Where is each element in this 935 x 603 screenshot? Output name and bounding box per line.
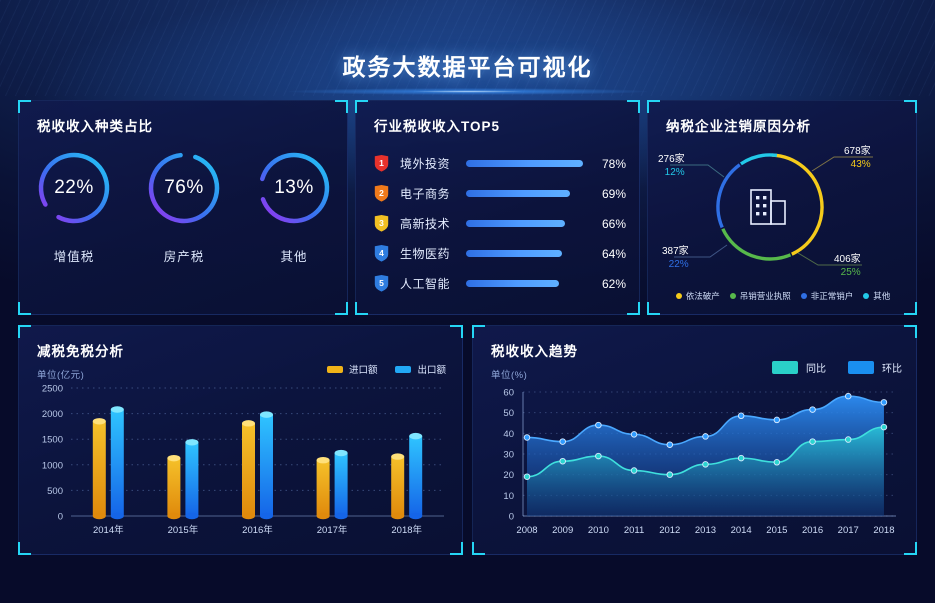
bar-base [93, 513, 106, 519]
rank-shield-icon: 3 [374, 215, 389, 232]
bar-base [409, 513, 422, 519]
top5-bar-track [466, 250, 583, 257]
top5-item-label: 电子商务 [400, 185, 462, 202]
panel-title-top5: 行业税收收入TOP5 [374, 115, 500, 135]
top5-bar-track [466, 190, 583, 197]
rank-number: 1 [374, 155, 389, 172]
top5-row[interactable]: 1境外投资78% [374, 149, 626, 178]
bar-chart-plot: 050010001500200025002014年2015年2016年2017年… [29, 378, 454, 551]
bar-base [335, 513, 348, 519]
gauge-label: 增值税 [54, 246, 95, 265]
corner-bracket-icon [18, 302, 31, 315]
trend-y-tick-label: 40 [503, 429, 514, 440]
office-building-icon [751, 190, 785, 224]
bar-base [391, 513, 404, 519]
bar-cap [242, 420, 255, 426]
legend-label: 进口额 [349, 362, 378, 376]
title-glow-decoration [288, 88, 648, 95]
trend-data-point [667, 442, 673, 448]
legend-color-dot [730, 293, 736, 299]
trend-x-tick-label: 2012 [659, 525, 680, 536]
trend-data-point [774, 459, 780, 465]
bar-legend-item[interactable]: 出口额 [395, 362, 446, 376]
bar-column [111, 410, 124, 516]
bar-base [167, 513, 180, 519]
top5-bar-fill [466, 190, 570, 197]
rank-shield-icon: 4 [374, 245, 389, 262]
dashboard-root: 政务大数据平台可视化 税收收入种类占比 22%增值税76%房产税13%其他 行业… [0, 0, 935, 603]
top5-row[interactable]: 4生物医药64% [374, 239, 626, 268]
donut-slice-count: 387家 [662, 246, 689, 257]
bar-y-tick-label: 1000 [42, 460, 63, 471]
top5-bar-fill [466, 220, 565, 227]
trend-data-point [667, 472, 673, 478]
bar-column [391, 457, 404, 516]
bar-legend-item[interactable]: 进口额 [327, 362, 378, 376]
corner-bracket-icon [904, 100, 917, 113]
corner-bracket-icon [904, 302, 917, 315]
top5-bar-track [466, 160, 583, 167]
trend-data-point [738, 455, 744, 461]
trend-x-tick-label: 2018 [873, 525, 894, 536]
panel-tax-reduction: 减税免税分析 单位(亿元) 进口额出口额 0500100015002000250… [18, 325, 463, 555]
trend-y-tick-label: 0 [509, 512, 514, 523]
corner-bracket-icon [18, 100, 31, 113]
legend-color-swatch [395, 366, 411, 373]
bar-column [335, 453, 348, 516]
trend-x-tick-label: 2010 [588, 525, 609, 536]
corner-bracket-icon [355, 100, 368, 113]
bar-base [242, 513, 255, 519]
bar-column [242, 423, 255, 516]
bar-column [409, 436, 422, 516]
trend-y-tick-label: 60 [503, 388, 514, 399]
donut-segment [741, 155, 777, 164]
donut-slice-count: 678家 [844, 146, 871, 157]
corner-bracket-icon [335, 100, 348, 113]
top5-percent-value: 66% [592, 217, 626, 231]
legend-label: 非正常销户 [811, 290, 854, 302]
corner-bracket-icon [627, 100, 640, 113]
bar-base [111, 513, 124, 519]
gauge-value: 76% [145, 149, 223, 227]
donut-slice-label: 406家25% [834, 253, 861, 279]
donut-slice-label: 387家22% [662, 245, 689, 271]
panel-title-cancel-reason: 纳税企业注销原因分析 [666, 115, 811, 135]
bar-y-tick-label: 1500 [42, 435, 63, 446]
bar-cap [409, 433, 422, 439]
corner-bracket-icon [904, 325, 917, 338]
bar-chart-legend: 进口额出口额 [327, 362, 446, 376]
bar-x-tick-label: 2015年 [168, 524, 199, 536]
trend-data-point [774, 417, 780, 423]
top5-bar-fill [466, 250, 562, 257]
trend-data-point [810, 439, 816, 445]
bar-cap [260, 411, 273, 417]
gauge-value: 13% [255, 149, 333, 227]
top5-row[interactable]: 2电子商务69% [374, 179, 626, 208]
corner-bracket-icon [627, 302, 640, 315]
trend-y-tick-label: 30 [503, 450, 514, 461]
gauge-label: 其他 [280, 246, 307, 265]
trend-data-point [631, 432, 637, 438]
donut-legend-item[interactable]: 吊销营业执照 [730, 290, 791, 302]
trend-data-point [703, 462, 709, 468]
top5-item-label: 生物医药 [400, 245, 462, 262]
trend-x-tick-label: 2015 [766, 525, 787, 536]
trend-y-tick-label: 20 [503, 470, 514, 481]
bar-y-tick-label: 0 [58, 512, 63, 523]
bar-base [185, 513, 198, 519]
trend-chart-plot: 0102030405060200820092010201120122013201… [483, 378, 908, 551]
top5-percent-value: 69% [592, 187, 626, 201]
top5-item-label: 高新技术 [400, 215, 462, 232]
trend-data-point [560, 458, 566, 464]
donut-legend-item[interactable]: 非正常销户 [801, 290, 854, 302]
corner-bracket-icon [18, 325, 31, 338]
panel-title-tax-trend: 税收收入趋势 [491, 340, 578, 360]
trend-x-tick-label: 2011 [624, 525, 644, 536]
trend-legend-item[interactable]: 环比 [848, 360, 902, 375]
donut-chart: 678家43%406家25%387家22%276家12% [648, 135, 918, 285]
rank-number: 2 [374, 185, 389, 202]
panel-industry-top5: 行业税收收入TOP5 1境外投资78%2电子商务69%3高新技术66%4生物医药… [355, 100, 640, 315]
legend-label: 同比 [806, 360, 826, 375]
trend-data-point [738, 413, 744, 419]
bar-y-tick-label: 2000 [42, 409, 63, 420]
legend-color-dot [801, 293, 807, 299]
trend-x-tick-label: 2016 [802, 525, 823, 536]
corner-bracket-icon [335, 302, 348, 315]
trend-x-tick-label: 2009 [552, 525, 573, 536]
trend-x-tick-label: 2013 [695, 525, 716, 536]
trend-data-point [524, 474, 530, 480]
bar-column [317, 460, 330, 516]
corner-bracket-icon [450, 325, 463, 338]
trend-x-tick-label: 2008 [516, 525, 537, 536]
bar-cap [317, 457, 330, 463]
donut-slice-percent: 25% [834, 266, 861, 279]
bar-cap [391, 453, 404, 459]
corner-bracket-icon [647, 302, 660, 315]
bar-column [260, 415, 273, 516]
gauge-ring: 13% [255, 149, 333, 227]
bar-column [167, 458, 180, 516]
trend-data-point [881, 400, 887, 406]
donut-segment [723, 229, 791, 259]
corner-bracket-icon [355, 302, 368, 315]
trend-y-tick-label: 50 [503, 408, 514, 419]
panel-title-tax-share: 税收收入种类占比 [37, 115, 153, 135]
bar-cap [111, 406, 124, 412]
top5-percent-value: 78% [592, 157, 626, 171]
trend-data-point [881, 424, 887, 430]
trend-chart-svg: 0102030405060200820092010201120122013201… [483, 378, 908, 546]
donut-legend-item[interactable]: 依法破产 [676, 290, 720, 302]
trend-data-point [703, 434, 709, 440]
trend-data-point [810, 407, 816, 413]
gauge-value: 22% [35, 149, 113, 227]
donut-slice-count: 406家 [834, 254, 861, 265]
bar-cap [335, 450, 348, 456]
panel-title-tax-reduction: 减税免税分析 [37, 340, 124, 360]
legend-color-swatch [772, 361, 798, 374]
legend-label: 其他 [873, 290, 890, 302]
top5-item-label: 境外投资 [400, 155, 462, 172]
gauge-label: 房产税 [164, 246, 205, 265]
donut-segment [718, 165, 740, 228]
trend-data-point [845, 437, 851, 443]
trend-y-tick-label: 10 [503, 491, 514, 502]
donut-slice-count: 276家 [658, 154, 685, 165]
legend-label: 吊销营业执照 [740, 290, 791, 302]
rank-number: 4 [374, 245, 389, 262]
bar-x-tick-label: 2016年 [242, 524, 273, 536]
rank-number: 3 [374, 215, 389, 232]
top5-bar-track [466, 220, 583, 227]
rank-shield-icon: 1 [374, 155, 389, 172]
trend-legend-item[interactable]: 同比 [772, 360, 826, 375]
trend-data-point [596, 422, 602, 428]
gauge-ring: 22% [35, 149, 113, 227]
legend-color-swatch [848, 361, 874, 374]
legend-color-dot [676, 293, 682, 299]
trend-chart-legend: 同比环比 [772, 360, 902, 375]
bar-cap [185, 439, 198, 445]
top5-row[interactable]: 3高新技术66% [374, 209, 626, 238]
panel-tax-trend: 税收收入趋势 单位(%) 同比环比 0102030405060200820092… [472, 325, 917, 555]
top5-item-label: 人工智能 [400, 275, 462, 292]
trend-x-tick-label: 2017 [838, 525, 859, 536]
donut-legend: 依法破产吊销营业执照非正常销户其他 [648, 290, 918, 302]
bar-column [93, 421, 106, 516]
bar-x-tick-label: 2018年 [391, 524, 422, 536]
gauge-ring: 76% [145, 149, 223, 227]
bar-y-tick-label: 2500 [42, 384, 63, 395]
dashboard-header: 政务大数据平台可视化 [0, 0, 935, 96]
trend-x-tick-label: 2014 [731, 525, 752, 536]
bar-base [317, 513, 330, 519]
donut-slice-label: 678家43% [844, 145, 871, 171]
top5-bar-fill [466, 280, 559, 287]
donut-slice-label: 276家12% [658, 153, 685, 179]
trend-data-point [845, 393, 851, 399]
trend-data-point [560, 439, 566, 445]
bar-cap [93, 418, 106, 424]
top5-row[interactable]: 5人工智能62% [374, 269, 626, 298]
bar-x-tick-label: 2014年 [93, 524, 124, 536]
page-title: 政务大数据平台可视化 [0, 48, 935, 82]
donut-slice-percent: 12% [658, 166, 685, 179]
bar-cap [167, 455, 180, 461]
top5-percent-value: 62% [592, 277, 626, 291]
rank-number: 5 [374, 275, 389, 292]
bar-base [260, 513, 273, 519]
panel-cancellation-reason: 纳税企业注销原因分析 678家43%406家25%387家22%276家12% … [647, 100, 917, 315]
trend-data-point [596, 453, 602, 459]
panel-tax-share: 税收收入种类占比 22%增值税76%房产税13%其他 [18, 100, 348, 315]
top5-list: 1境外投资78%2电子商务69%3高新技术66%4生物医药64%5人工智能62% [374, 149, 626, 299]
legend-color-swatch [327, 366, 343, 373]
legend-label: 出口额 [417, 362, 446, 376]
gauge-group: 22%增值税76%房产税13%其他 [19, 149, 349, 265]
donut-legend-item[interactable]: 其他 [863, 290, 890, 302]
trend-data-point [631, 468, 637, 474]
corner-bracket-icon [472, 325, 485, 338]
donut-slice-percent: 43% [844, 158, 871, 171]
gauge-3: 13%其他 [239, 149, 349, 265]
corner-bracket-icon [647, 100, 660, 113]
donut-slice-percent: 22% [662, 258, 689, 271]
gauge-2: 76%房产税 [129, 149, 239, 265]
top5-percent-value: 64% [592, 247, 626, 261]
rank-shield-icon: 2 [374, 185, 389, 202]
bar-chart-svg: 050010001500200025002014年2015年2016年2017年… [29, 378, 454, 546]
top5-bar-track [466, 280, 583, 287]
top5-bar-fill [466, 160, 583, 167]
rank-shield-icon: 5 [374, 275, 389, 292]
bar-y-tick-label: 500 [47, 486, 63, 497]
bar-column [185, 442, 198, 516]
gauge-1: 22%增值税 [19, 149, 129, 265]
trend-data-point [524, 435, 530, 441]
legend-color-dot [863, 293, 869, 299]
legend-label: 依法破产 [686, 290, 720, 302]
bar-x-tick-label: 2017年 [317, 524, 348, 536]
legend-label: 环比 [882, 360, 902, 375]
